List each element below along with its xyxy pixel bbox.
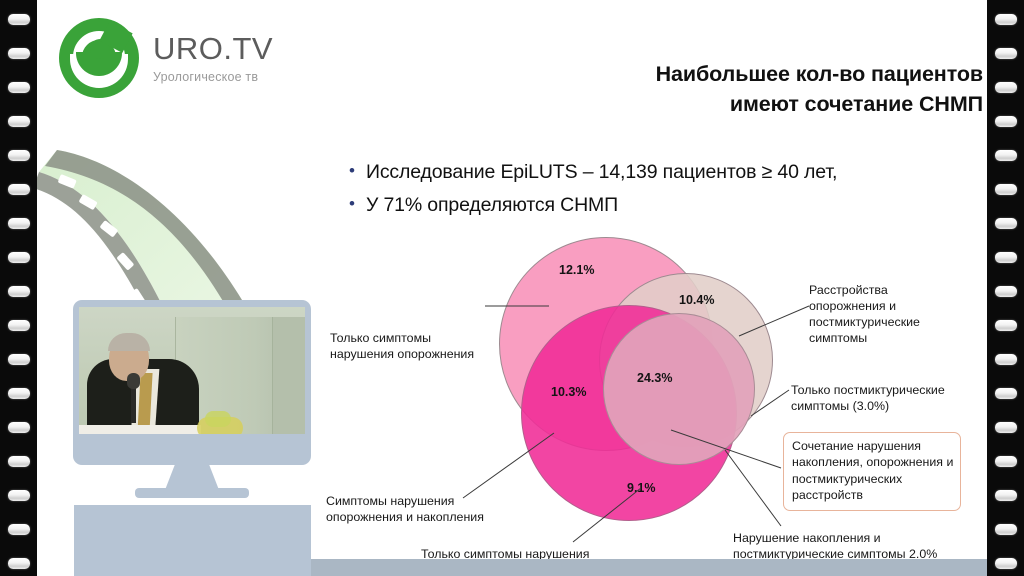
bullet-list: • Исследование EpiLUTS – 14,139 пациенто…: [349, 160, 909, 227]
filmstrip-hole: [995, 184, 1017, 195]
callout-line: Нарушение накопления и: [733, 530, 937, 546]
filmstrip-hole: [995, 218, 1017, 229]
callout-line: расстройств: [792, 487, 953, 503]
callout-voiding-postmicturition: Расстройства опорожнения и постмиктуриче…: [809, 282, 920, 347]
filmstrip-hole: [995, 558, 1017, 569]
filmstrip-hole: [8, 354, 30, 365]
callout-only-storage: Только симптомы нарушения накопления: [421, 546, 589, 559]
filmstrip-hole: [8, 320, 30, 331]
filmstrip-hole: [995, 490, 1017, 501]
filmstrip-hole: [8, 150, 30, 161]
filmstrip-hole: [995, 524, 1017, 535]
callout-only-postmicturition: Только постмиктурические симптомы (3.0%): [791, 382, 945, 414]
filmstrip-hole: [8, 388, 30, 399]
list-item: • У 71% определяются СНМП: [349, 193, 909, 217]
filmstrip-hole: [995, 286, 1017, 297]
venn-region-all-three: [603, 313, 755, 465]
branding-panel: URO.TV Урологическое тв: [37, 0, 311, 576]
filmstrip-hole: [995, 388, 1017, 399]
slide-bottom-band: [311, 559, 987, 576]
filmstrip-hole: [8, 82, 30, 93]
filmstrip-hole: [8, 558, 30, 569]
bullet-text: Исследование EpiLUTS – 14,139 пациентов …: [366, 160, 837, 184]
callout-voiding-storage: Симптомы нарушения опорожнения и накопле…: [326, 493, 484, 525]
filmstrip-hole: [995, 116, 1017, 127]
callout-line: постмиктурические симптомы 2.0%: [733, 546, 937, 559]
filmstrip-hole: [8, 456, 30, 467]
callout-line: Расстройства: [809, 282, 920, 298]
venn-value-only-voiding: 12.1%: [559, 263, 594, 277]
callout-line: Сочетание нарушения: [792, 438, 953, 454]
filmstrip-hole: [995, 82, 1017, 93]
logo-title: URO.TV: [153, 33, 273, 64]
filmstrip-hole: [8, 218, 30, 229]
slide-title: Наибольшее кол-во пациентов имеют сочета…: [463, 60, 983, 119]
bullet-marker-icon: •: [349, 160, 355, 181]
filmstrip-hole: [995, 354, 1017, 365]
callout-line: постмиктурических: [792, 471, 953, 487]
callout-line: Симптомы нарушения: [326, 493, 484, 509]
callout-line: Только симптомы: [330, 330, 474, 346]
callout-line: опорожнения и накопления: [326, 509, 484, 525]
callout-line: постмиктурические: [809, 314, 920, 330]
filmstrip-right: [987, 0, 1024, 576]
callout-all-three-boxed: Сочетание нарушения накопления, опорожне…: [783, 432, 961, 511]
filmstrip-hole: [995, 252, 1017, 263]
filmstrip-hole: [995, 320, 1017, 331]
callout-line: опорожнения и: [809, 298, 920, 314]
video-player-frame: URO.TV Урологическое тв: [0, 0, 1024, 576]
filmstrip-hole: [995, 422, 1017, 433]
filmstrip-left: [0, 0, 37, 576]
callout-line: накопления, опорожнения и: [792, 454, 953, 470]
callout-only-voiding: Только симптомы нарушения опорожнения: [330, 330, 474, 362]
bottom-band: [74, 505, 311, 576]
slide-title-line2: имеют сочетание СНМП: [463, 90, 983, 120]
filmstrip-hole: [8, 252, 30, 263]
bullet-text: У 71% определяются СНМП: [366, 193, 618, 217]
venn-value-voiding-storage: 10.3%: [551, 385, 586, 399]
filmstrip-hole: [8, 116, 30, 127]
logo-subtitle: Урологическое тв: [153, 71, 273, 84]
presentation-slide: Наибольшее кол-во пациентов имеют сочета…: [311, 38, 987, 559]
filmstrip-hole: [995, 150, 1017, 161]
list-item: • Исследование EpiLUTS – 14,139 пациенто…: [349, 160, 909, 184]
bullet-marker-icon: •: [349, 193, 355, 214]
venn-diagram: 12.1% 10.4% 24.3% 10.3% 9.1%: [499, 233, 799, 523]
filmstrip-hole: [995, 14, 1017, 25]
video-still: [79, 307, 305, 434]
filmstrip-hole: [8, 422, 30, 433]
venn-value-voiding-post: 10.4%: [679, 293, 714, 307]
callout-line: Только симптомы нарушения: [421, 546, 589, 559]
monitor-screen-icon: [73, 300, 311, 500]
filmstrip-hole: [995, 456, 1017, 467]
filmstrip-hole: [8, 524, 30, 535]
slide-title-line1: Наибольшее кол-во пациентов: [463, 60, 983, 90]
venn-value-only-storage: 9.1%: [627, 481, 656, 495]
filmstrip-hole: [8, 490, 30, 501]
callout-line: симптомы (3.0%): [791, 398, 945, 414]
filmstrip-hole: [995, 48, 1017, 59]
logo: URO.TV Урологическое тв: [59, 18, 273, 98]
venn-value-all-three: 24.3%: [637, 371, 672, 385]
filmstrip-hole: [8, 184, 30, 195]
callout-line: нарушения опорожнения: [330, 346, 474, 362]
filmstrip-hole: [8, 48, 30, 59]
filmstrip-hole: [8, 286, 30, 297]
callout-line: Только постмиктурические: [791, 382, 945, 398]
callout-line: симптомы: [809, 330, 920, 346]
callout-storage-postmicturition: Нарушение накопления и постмиктурические…: [733, 530, 937, 559]
filmstrip-hole: [8, 14, 30, 25]
uro-tv-circle-logo-icon: [59, 18, 139, 98]
